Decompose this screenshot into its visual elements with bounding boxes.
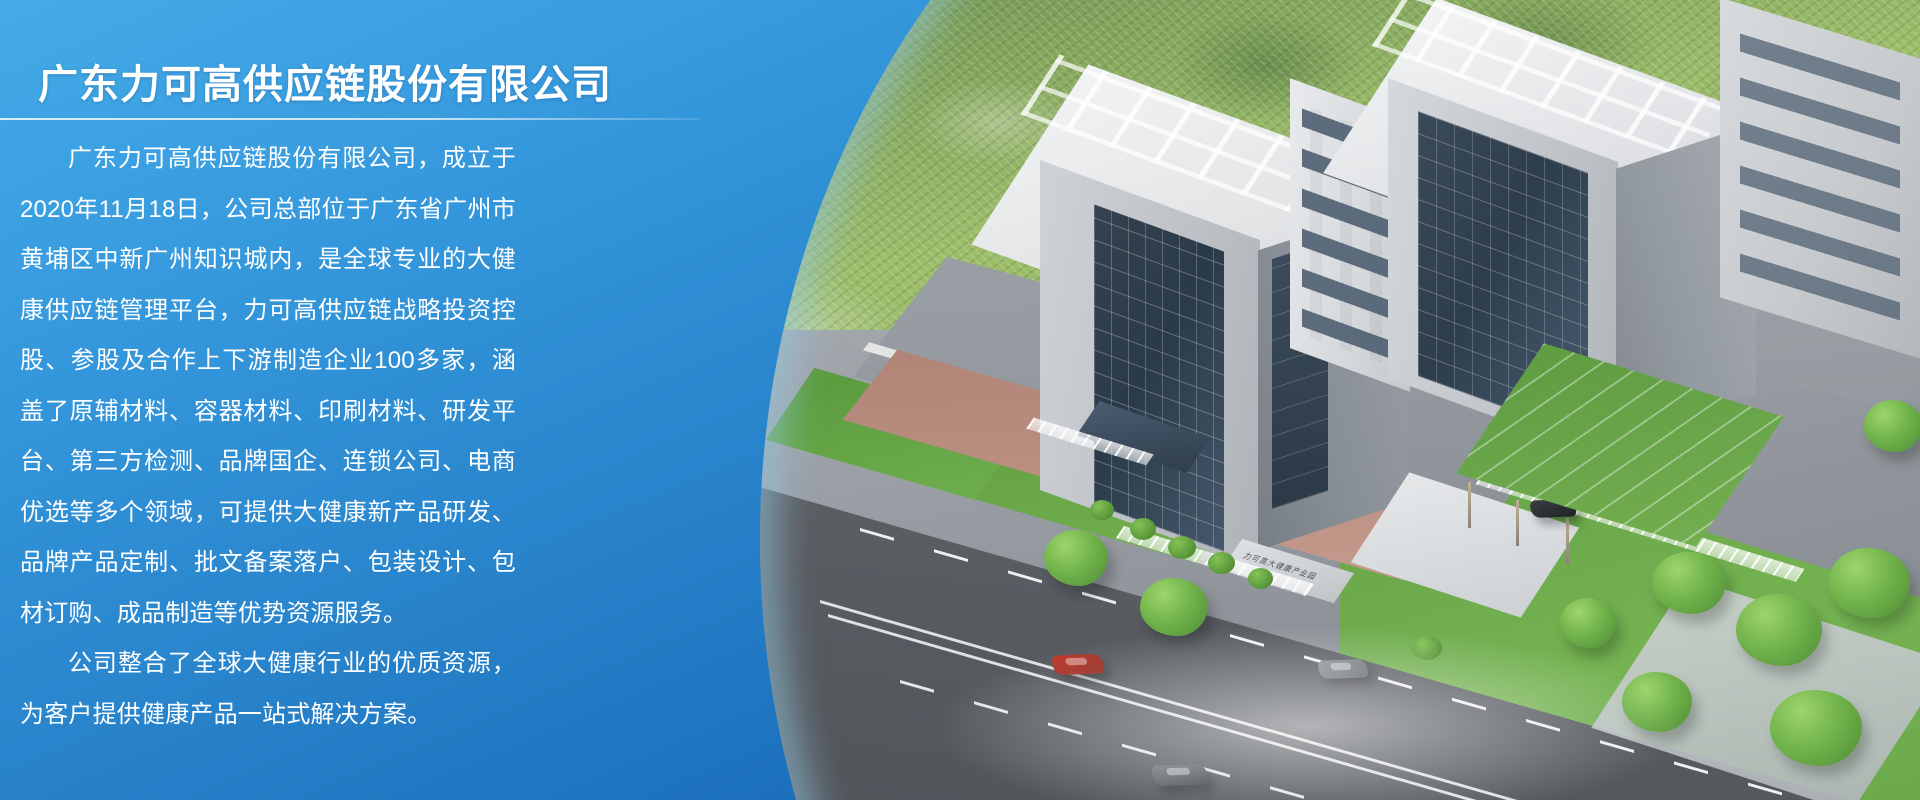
description-paragraph-2: 公司整合了全球大健康行业的优质资源，为客户提供健康产品一站式解决方案。 bbox=[20, 639, 516, 740]
planter-shrub-4 bbox=[1248, 568, 1273, 589]
planter-shrub-3 bbox=[1208, 552, 1235, 574]
park-tree-7 bbox=[1864, 400, 1920, 452]
planter-shrub-5 bbox=[1090, 500, 1114, 520]
headquarters-photo: 力可高大健康产业园 bbox=[760, 0, 1920, 800]
company-profile-banner: 力可高大健康产业园 bbox=[0, 0, 1920, 800]
title-divider bbox=[0, 118, 700, 120]
description-paragraph-1: 广东力可高供应链股份有限公司，成立于2020年11月18日，公司总部位于广东省广… bbox=[20, 134, 516, 639]
text-column: 广东力可高供应链股份有限公司 广东力可高供应链股份有限公司，成立于2020年11… bbox=[0, 0, 660, 800]
street-tree-1 bbox=[1044, 530, 1108, 586]
company-description: 广东力可高供应链股份有限公司，成立于2020年11月18日，公司总部位于广东省广… bbox=[20, 134, 516, 740]
planter-shrub-2 bbox=[1168, 536, 1196, 559]
building-d-windows bbox=[1740, 32, 1900, 331]
atmospheric-haze bbox=[900, 600, 1920, 800]
page-title: 广东力可高供应链股份有限公司 bbox=[38, 52, 612, 110]
light-pole-1 bbox=[1468, 482, 1471, 528]
headquarters-photo-illustration: 力可高大健康产业园 bbox=[760, 0, 1920, 800]
planter-shrub-1 bbox=[1130, 518, 1156, 540]
light-pole-2 bbox=[1516, 500, 1519, 546]
light-pole-3 bbox=[1566, 518, 1569, 564]
building-a-curtain-wall bbox=[1094, 204, 1224, 551]
